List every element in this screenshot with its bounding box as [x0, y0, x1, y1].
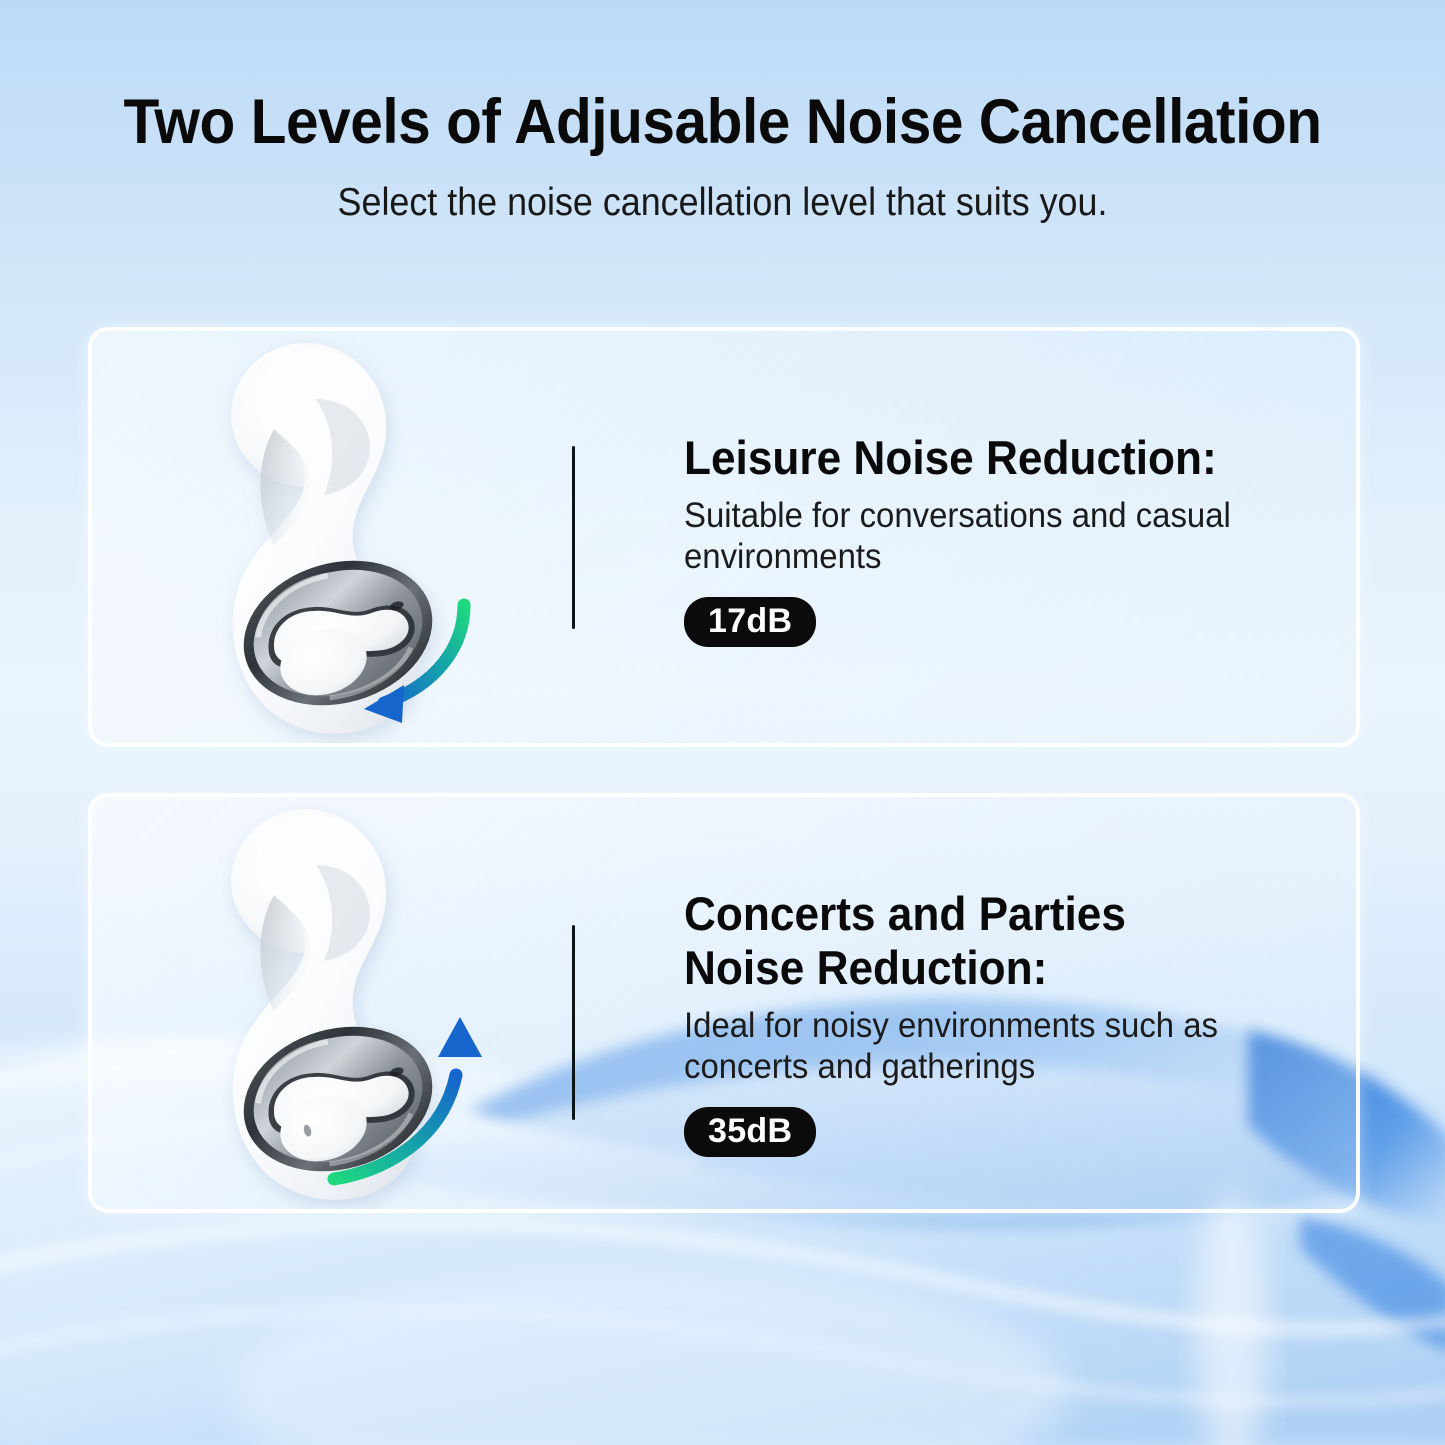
page-title: Two Levels of Adjusable Noise Cancellati… [51, 86, 1395, 158]
card-title-concerts: Concerts and Parties Noise Reduction: [684, 887, 1323, 995]
noise-level-card-concerts: Concerts and Parties Noise Reduction: Id… [88, 793, 1360, 1213]
card-divider-line [572, 925, 575, 1120]
card-text-column-leisure: Leisure Noise Reduction: Suitable for co… [684, 431, 1360, 647]
card-description-concerts: Ideal for noisy environments such as con… [684, 1005, 1323, 1087]
card-title-leisure: Leisure Noise Reduction: [684, 431, 1323, 485]
infographic-stage: Two Levels of Adjusable Noise Cancellati… [0, 0, 1445, 1445]
earbud-illustration-concerts [188, 803, 518, 1213]
noise-level-card-leisure: Leisure Noise Reduction: Suitable for co… [88, 327, 1360, 747]
earbud-illustration-leisure [188, 337, 518, 747]
page-subtitle: Select the noise cancellation level that… [58, 180, 1387, 226]
decibel-badge-leisure: 17dB [684, 597, 816, 647]
card-text-column-concerts: Concerts and Parties Noise Reduction: Id… [684, 887, 1360, 1157]
decibel-badge-concerts: 35dB [684, 1107, 816, 1157]
card-description-leisure: Suitable for conversations and casual en… [684, 495, 1323, 577]
card-divider-line [572, 446, 575, 629]
